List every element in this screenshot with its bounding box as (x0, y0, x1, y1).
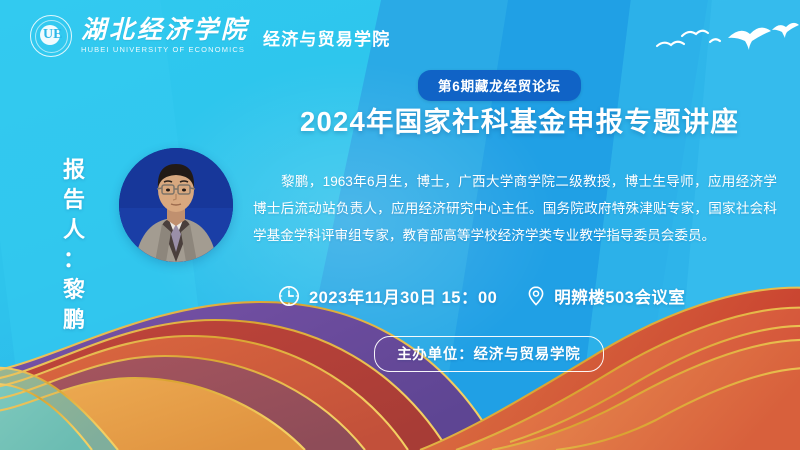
vertical-label-char: 告 (58, 185, 92, 215)
vertical-label-char: 报 (58, 155, 92, 185)
speaker-portrait-photo (119, 148, 233, 262)
poster-canvas: UE 湖北经济学院 HUBEI UNIVERSITY OF ECONOMICS … (0, 0, 800, 450)
department-name: 经济与贸易学院 (263, 23, 390, 50)
university-logo: UE 湖北经济学院 HUBEI UNIVERSITY OF ECONOMICS (30, 15, 249, 57)
forum-badge: 第6期藏龙经贸论坛 (418, 70, 581, 101)
speaker-bio: 黎鹏，1963年6月生，博士，广西大学商学院二级教授，博士生导师，应用经济学博士… (253, 168, 777, 249)
organizer-pill: 主办单位：经济与贸易学院 (374, 336, 604, 372)
crest-monogram: UE (43, 26, 62, 44)
location-pin-icon (527, 285, 545, 307)
vertical-label-char: 鹏 (58, 305, 92, 335)
vertical-label-char: 人 (58, 215, 92, 245)
event-venue: 明辨楼503会议室 (554, 284, 685, 308)
event-meta-row: 2023年11月30日 15：00 明辨楼503会议室 (278, 284, 685, 308)
clock-icon (278, 285, 300, 307)
university-name-en: HUBEI UNIVERSITY OF ECONOMICS (81, 45, 249, 55)
university-name-cn: 湖北经济学院 (81, 17, 249, 44)
logo-text-block: 湖北经济学院 HUBEI UNIVERSITY OF ECONOMICS (81, 17, 249, 55)
university-crest-icon: UE (30, 15, 72, 57)
speaker-vertical-label: 报 告 人 ： 黎 鹏 (58, 155, 92, 335)
event-datetime: 2023年11月30日 15：00 (309, 284, 497, 308)
poster-header: UE 湖北经济学院 HUBEI UNIVERSITY OF ECONOMICS … (0, 0, 800, 72)
page-title: 2024年国家社科基金申报专题讲座 (300, 105, 739, 139)
vertical-label-char: 黎 (58, 275, 92, 305)
vertical-label-char: ： (58, 245, 92, 275)
